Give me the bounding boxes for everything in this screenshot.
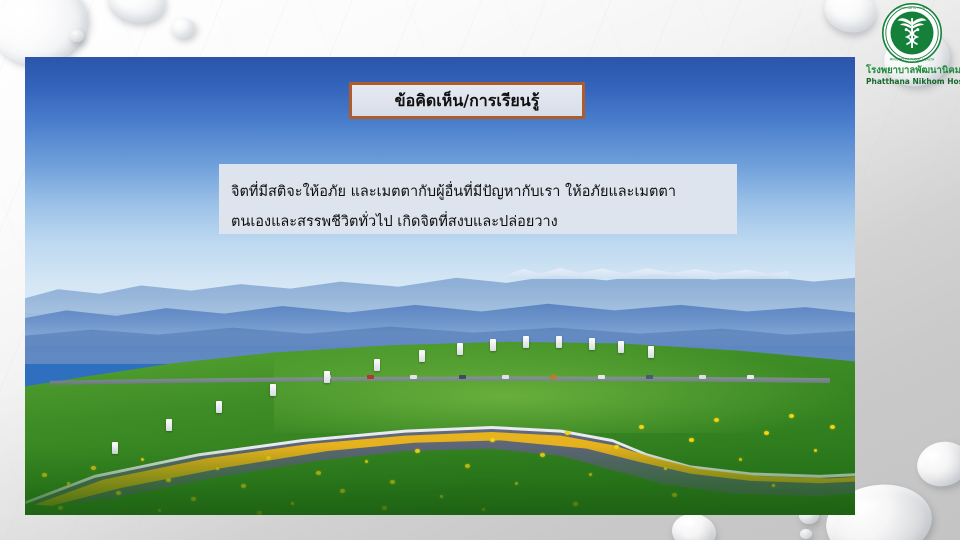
photo-foreground-grass	[25, 446, 855, 515]
landscape-photo	[25, 57, 855, 515]
title-box: ข้อคิดเห็น/การเรียนรู้	[349, 82, 585, 119]
ministry-of-public-health-seal-icon: กระทรวงสาธารณสุข MINISTRY OF PUBLIC HEAL…	[881, 2, 943, 64]
hospital-logo: กระทรวงสาธารณสุข MINISTRY OF PUBLIC HEAL…	[866, 2, 958, 90]
hospital-name-english: Phatthana Nikhom Hospital	[866, 77, 958, 87]
water-droplet-icon	[800, 529, 812, 539]
title-text: ข้อคิดเห็น/การเรียนรู้	[395, 93, 540, 109]
body-text-box: จิตที่มีสติจะให้อภัย และเมตตากับผู้อื่นท…	[219, 164, 737, 234]
body-text-line-2: ตนเองและสรรพชีวิตทั่วไป เกิดจิตที่สงบและ…	[231, 207, 723, 237]
body-text-line-1: จิตที่มีสติจะให้อภัย และเมตตากับผู้อื่นท…	[231, 177, 723, 207]
water-droplet-icon	[104, 0, 170, 28]
water-droplet-icon	[912, 436, 960, 491]
water-droplet-icon	[170, 16, 197, 39]
hospital-name-thai: โรงพยาบาลพัฒนานิคม	[866, 65, 958, 77]
svg-text:MINISTRY OF PUBLIC HEALTH: MINISTRY OF PUBLIC HEALTH	[890, 58, 935, 62]
slide-canvas: ข้อคิดเห็น/การเรียนรู้ จิตที่มีสติจะให้อ…	[0, 0, 960, 540]
water-droplet-icon	[70, 30, 84, 42]
